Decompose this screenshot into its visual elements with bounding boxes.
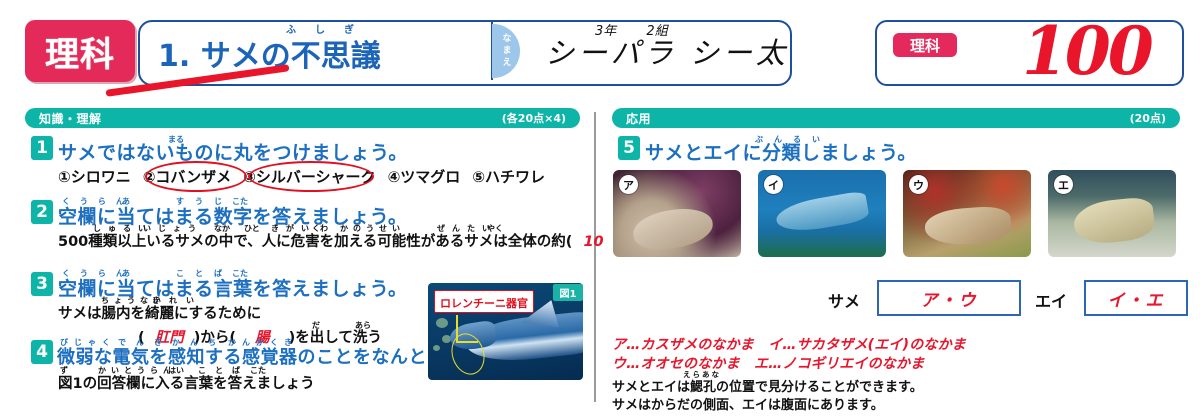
worksheet-header: 理科 ふ し ぎ 1. サメの不思議 なまえ 3年 2組 シーパラ シー太 理科: [0, 0, 1200, 100]
question-3-number: 3: [31, 272, 53, 296]
question-2-ruby-h: ひと: [244, 223, 260, 234]
figure-1-caption: ロレンチーニ器官: [434, 290, 534, 313]
answer-box-same[interactable]: ア・ウ: [877, 280, 1021, 316]
photo-option-c: ウ: [903, 170, 1031, 257]
question-4-ruby-i: こた: [250, 365, 266, 376]
question-3-ruby-h: あら: [355, 320, 371, 331]
question-2-answer: 10: [583, 234, 603, 250]
figure-1-badge-label: 図1: [560, 285, 577, 300]
photo-d-label: エ: [1054, 175, 1073, 194]
answer-box-same-value: ア・ウ: [921, 286, 978, 311]
question-2-ruby-i: きがい: [271, 223, 316, 234]
option-4: ④ツマグロ: [388, 168, 461, 186]
worksheet-page: 理科 ふ し ぎ 1. サメの不思議 なまえ 3年 2組 シーパラ シー太 理科: [0, 0, 1200, 420]
black-note-line-1: サメとエイは鰓孔の位置で見分けることができます。: [612, 376, 923, 395]
question-1-number-label: 1: [36, 138, 48, 158]
score-subject-tag: 理科: [893, 33, 957, 57]
photo-b-label: イ: [764, 175, 783, 194]
answer-circle-option-2: [145, 161, 247, 192]
question-2-number: 2: [31, 200, 53, 224]
question-1-number: 1: [31, 136, 53, 160]
question-2-ruby-k: かのうせい: [340, 223, 405, 234]
question-4-ruby-f: かいとうらん: [98, 365, 176, 376]
question-3-ruby-f: きれい: [152, 295, 203, 306]
section-application-title: 応用: [626, 110, 651, 127]
column-divider: [594, 112, 596, 402]
photo-option-b: イ: [758, 170, 886, 257]
answer-label-same: サメ: [828, 288, 860, 312]
question-2-ruby-j: くわ: [312, 223, 328, 234]
question-5-number-label: 5: [623, 138, 635, 158]
subject-tag: 理科: [25, 20, 135, 82]
answer-box-ei[interactable]: イ・エ: [1084, 280, 1188, 316]
score-box: 理科 100: [875, 20, 1184, 86]
question-3-ruby-g: だ: [312, 320, 320, 331]
question-5-text: サメとエイに分類しましょう。: [645, 138, 917, 165]
figure-1-caption-label: ロレンチーニ器官: [440, 297, 528, 310]
section-header-application: 応用 (20点): [612, 108, 1180, 128]
name-label-text: なまえ: [500, 33, 513, 69]
question-4-number: 4: [31, 340, 53, 364]
photo-a-label: ア: [619, 175, 638, 194]
bubble-1: [436, 318, 448, 328]
photo-c-label: ウ: [909, 175, 928, 194]
option-5: ⑤ハチワレ: [472, 168, 545, 186]
question-4-ruby-e: ず: [60, 365, 68, 376]
question-4-ruby-h: ことば: [198, 365, 249, 376]
question-1-text: サメではないものに丸をつけましょう。: [58, 138, 408, 165]
question-2-ruby-f: いじょう: [143, 223, 203, 234]
subject-tag-label: 理科: [45, 27, 115, 76]
photo-c-label-text: ウ: [913, 177, 924, 193]
question-3-number-label: 3: [36, 274, 48, 294]
question-4-sub: 図1の回答欄に入る言葉を答えましょう: [58, 372, 315, 393]
question-4-ruby-g: はい: [168, 365, 184, 376]
bubble-3: [433, 345, 440, 351]
student-name-value: シーパラ シー太: [545, 30, 789, 72]
option-1: ①シロワニ: [58, 168, 131, 186]
red-note-line-2: ウ…オオセのなかま エ…ノコギリエイのなかま: [612, 353, 924, 373]
name-label-badge: なまえ: [492, 24, 520, 78]
question-2-ruby-g: なか: [214, 223, 230, 234]
figure-1-badge: 図1: [553, 284, 583, 301]
photo-a-label-text: ア: [623, 177, 634, 193]
black-note-line-2: サメはからだの側面、エイは腹面にあります。: [612, 394, 884, 413]
photo-d-label-text: エ: [1058, 177, 1069, 193]
section-header-knowledge: 知識・理解 (各20点×4): [25, 108, 580, 128]
photo-option-d: エ: [1048, 170, 1176, 257]
question-4-number-label: 4: [36, 342, 48, 362]
section-knowledge-points: (各20点×4): [502, 110, 566, 126]
answer-circle-option-3: [248, 161, 374, 192]
question-5-number: 5: [618, 136, 640, 160]
question-2-ruby-m: やく: [487, 223, 503, 234]
photo-option-a: ア: [613, 170, 741, 257]
score-value: 100: [1022, 12, 1151, 90]
answer-box-ei-value: イ・エ: [1108, 286, 1165, 311]
section-application-points: (20点): [1130, 110, 1166, 126]
question-2-body-pre: 500種類以上いるサメの中で、人に危害を加える可能性があるサメは全体の約(: [58, 234, 572, 250]
answer-label-ei: エイ: [1035, 288, 1067, 312]
question-2-number-label: 2: [36, 202, 48, 222]
section-knowledge-title: 知識・理解: [39, 110, 102, 127]
red-note-line-1: ア…カスザメのなかま イ…サカタザメ(エイ)のなかま: [612, 334, 966, 354]
score-subject-label: 理科: [910, 35, 940, 56]
photo-b-label-text: イ: [768, 177, 779, 193]
